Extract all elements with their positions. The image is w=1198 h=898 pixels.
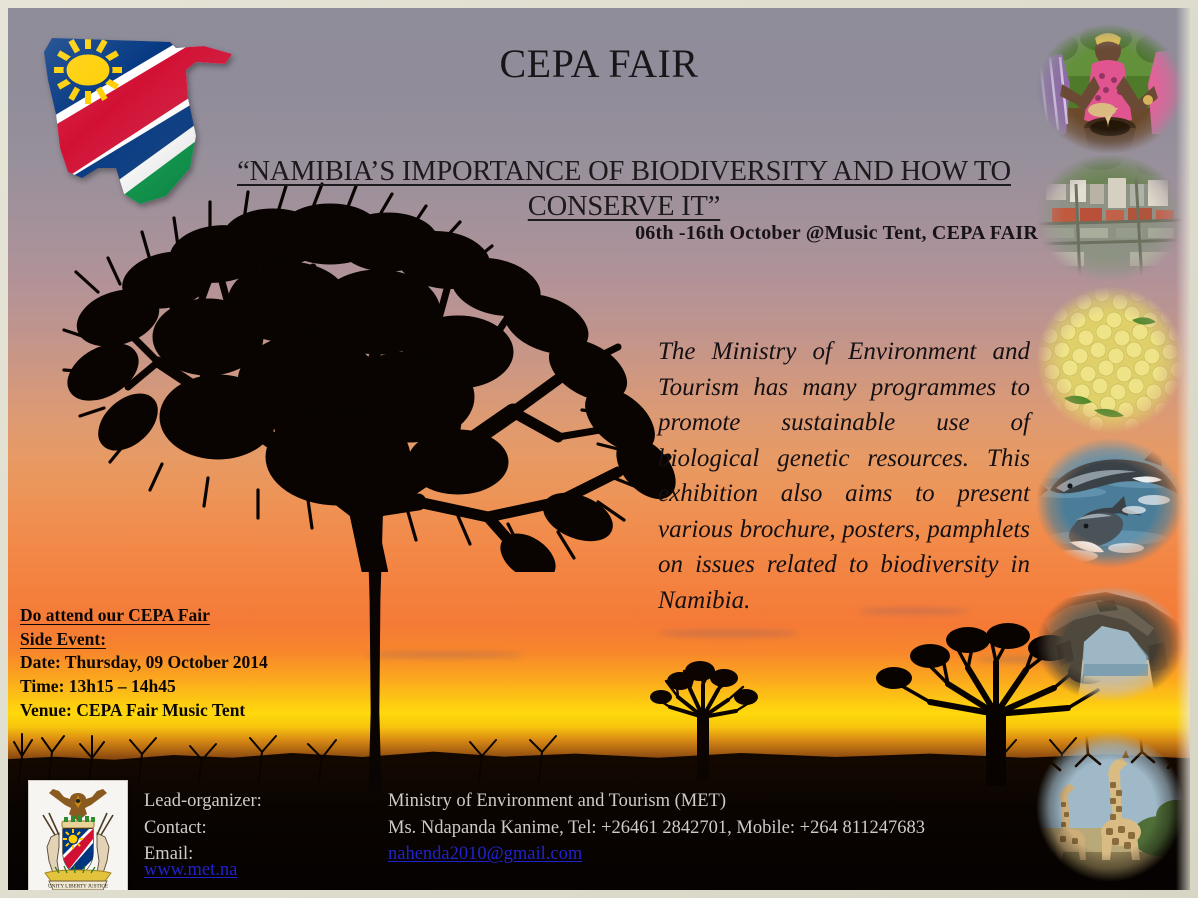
namibia-coat-of-arms-icon: UNITY LIBERTY JUSTICE xyxy=(28,780,128,890)
email-link[interactable]: nahenda2010@gmail.com xyxy=(388,841,925,868)
event-date-strip: 06th -16th October @Music Tent, CEPA FAI… xyxy=(635,222,1038,245)
contact-label-organizer: Lead-organizer: xyxy=(144,788,388,815)
contact-block: Lead-organizer: Ministry of Environment … xyxy=(144,788,1044,868)
marula-fruits-photo xyxy=(1036,286,1184,434)
foreground-bush-line xyxy=(8,726,1190,786)
page-title: CEPA FAIR xyxy=(8,40,1190,87)
side-event-venue: Venue: CEPA Fair Music Tent xyxy=(20,699,330,723)
contact-row-organizer: Lead-organizer: Ministry of Environment … xyxy=(144,788,925,815)
side-event-heading-2: Side Event: xyxy=(20,628,330,652)
poster-root: CEPA FAIR “NAMIBIA’S IMPORTANCE OF BIODI… xyxy=(0,0,1198,898)
contact-value-contact: Ms. Ndapanda Kanime, Tel: +26461 2842701… xyxy=(388,815,925,842)
subtitle-line-1: “NAMIBIA’S IMPORTANCE OF BIODIVERSITY AN… xyxy=(237,156,1011,187)
right-light-stripe xyxy=(1176,8,1190,890)
contact-value-organizer: Ministry of Environment and Tourism (MET… xyxy=(388,788,925,815)
coat-of-arms-motto: UNITY LIBERTY JUSTICE xyxy=(48,884,108,890)
cloud-streak xyxy=(658,630,798,637)
website-link[interactable]: www.met.na xyxy=(144,860,237,881)
rock-arch-photo xyxy=(1036,586,1184,702)
side-event-date: Date: Thursday, 09 October 2014 xyxy=(20,651,330,675)
cloud-streak xyxy=(363,652,523,658)
women-pounding-grain-photo xyxy=(1036,24,1184,154)
photo-strip xyxy=(1030,8,1190,890)
side-event-heading-1: Do attend our CEPA Fair xyxy=(20,604,330,628)
side-event-block: Do attend our CEPA Fair Side Event: Date… xyxy=(20,604,330,723)
contact-label-contact: Contact: xyxy=(144,815,388,842)
poster-canvas: CEPA FAIR “NAMIBIA’S IMPORTANCE OF BIODI… xyxy=(8,8,1190,890)
side-event-time: Time: 13h15 – 14h45 xyxy=(20,675,330,699)
subtitle-line-2: CONSERVE IT” xyxy=(528,191,720,222)
contact-row-person: Contact: Ms. Ndapanda Kanime, Tel: +2646… xyxy=(144,815,925,842)
contact-row-email: Email: nahenda2010@gmail.com xyxy=(144,841,925,868)
poster-subtitle: “NAMIBIA’S IMPORTANCE OF BIODIVERSITY AN… xyxy=(194,154,1054,224)
dolphins-photo xyxy=(1036,438,1184,568)
aerial-city-photo xyxy=(1036,154,1184,282)
giraffes-photo xyxy=(1036,732,1184,882)
body-paragraph: The Ministry of Environment and Tourism … xyxy=(658,334,1030,618)
